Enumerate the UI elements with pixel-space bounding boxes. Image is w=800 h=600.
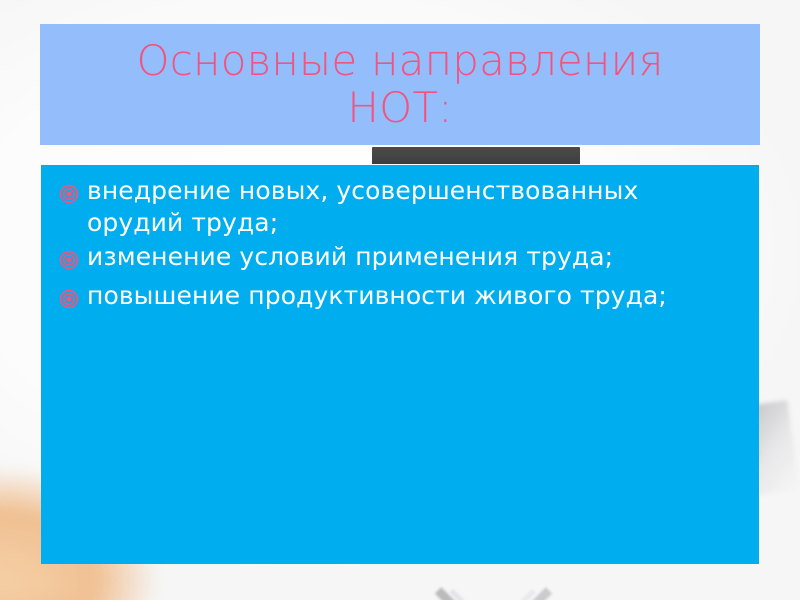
- target-circle-bullet-icon: [55, 177, 83, 211]
- presentation-slide: Основные направления НОТ: внедрение новы…: [0, 0, 800, 600]
- slide-title: Основные направления НОТ:: [136, 38, 663, 130]
- slide-title-box: Основные направления НОТ:: [40, 24, 760, 145]
- target-circle-bullet-icon: [55, 282, 83, 316]
- slide-body-box: внедрение новых, усовершенствованных ору…: [41, 165, 759, 564]
- list-item: изменение условий применения труда;: [55, 241, 733, 277]
- bullet-list: внедрение новых, усовершенствованных ору…: [55, 175, 733, 316]
- bullet-text: внедрение новых, усовершенствованных ору…: [83, 175, 727, 238]
- bullet-text: повышение продуктивности живого труда;: [83, 280, 667, 312]
- bullet-text: изменение условий применения труда;: [83, 241, 613, 273]
- list-item: повышение продуктивности живого труда;: [55, 280, 733, 316]
- target-circle-bullet-icon: [55, 243, 83, 277]
- list-item: внедрение новых, усовершенствованных ору…: [55, 175, 733, 238]
